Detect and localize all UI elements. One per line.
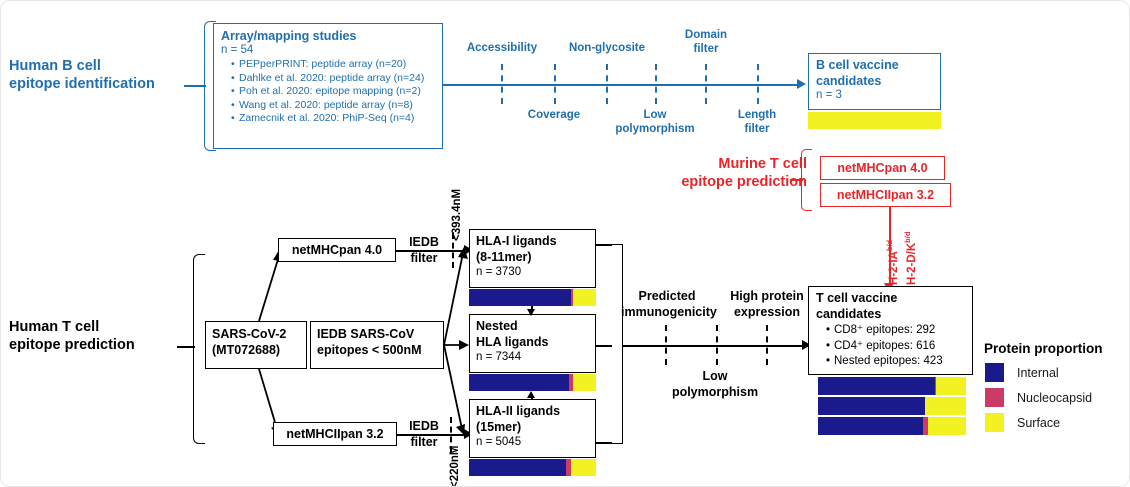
proportion-bar-cd8 xyxy=(818,377,966,395)
tcell-candidates-line1: T cell vaccine xyxy=(816,291,965,307)
human-predictor-netmhcpan: netMHCpan 4.0 xyxy=(278,238,396,262)
bar-segment-internal xyxy=(818,397,925,415)
nested-line1: Nested xyxy=(476,319,589,335)
array-mapping-studies-list: PEPperPRINT: peptide array (n=20) Dahlke… xyxy=(221,58,435,126)
label-tcell-low-polymorphism: Low polymorphism xyxy=(665,369,765,400)
sars-cov2-line1: SARS-CoV-2 xyxy=(212,327,300,343)
tcell-section-label: Human T cell epitope prediction xyxy=(9,319,184,354)
label-highprot-l1: High protein xyxy=(723,289,811,305)
bcell-section-label: Human B cell epitope identification xyxy=(9,58,199,93)
label-low-polymorphism-l1: Low xyxy=(605,109,705,123)
legend-label-internal: Internal xyxy=(1017,366,1059,380)
bcell-candidates-line2: candidates xyxy=(816,74,933,90)
hla-i-n: n = 3730 xyxy=(476,265,589,281)
proportion-bar-hla-i xyxy=(469,289,596,306)
label-tcell-lowpoly-l2: polymorphism xyxy=(665,385,765,401)
label-accessibility: Accessibility xyxy=(456,42,548,54)
bar-segment-surface xyxy=(936,377,966,395)
proportion-bar-cd4 xyxy=(818,397,966,415)
murine-section-label-line1: Murine T cell xyxy=(627,156,807,174)
tick-tcell-low-polymorphism xyxy=(716,325,718,365)
allele-label-h2-ia: H-2-IAb/d xyxy=(885,240,900,285)
label-highprot-l2: expression xyxy=(723,305,811,321)
label-domain-filter: Domain filter xyxy=(666,29,746,56)
collector-mid-stub xyxy=(596,345,612,347)
label-predicted-l2: immunogenicity xyxy=(621,305,713,321)
bar-segment-surface xyxy=(573,289,596,306)
bcell-section-label-line1: Human B cell xyxy=(9,58,199,76)
bcell-pipeline-line xyxy=(443,84,801,86)
array-mapping-studies-box: Array/mapping studies n = 54 PEPperPRINT… xyxy=(213,23,443,149)
study-item: Poh et al. 2020: epitope mapping (n=2) xyxy=(231,85,435,99)
tcell-candidate-item: CD8⁺ epitopes: 292 xyxy=(826,323,965,339)
murine-section-label: Murine T cell epitope prediction xyxy=(627,156,807,191)
tcell-vaccine-candidates-box: T cell vaccine candidates CD8⁺ epitopes:… xyxy=(808,286,973,375)
study-item: Dahlke et al. 2020: peptide array (n=24) xyxy=(231,72,435,86)
label-predicted-immunogenicity: Predicted immunogenicity xyxy=(621,289,713,320)
allele-label-h2-dk-main: H-2-D/K xyxy=(906,243,918,285)
tcell-candidates-line2: candidates xyxy=(816,307,965,323)
iedb-filter-bottom-l2: filter xyxy=(400,435,448,451)
study-item: PEPperPRINT: peptide array (n=20) xyxy=(231,58,435,72)
legend-swatch-internal xyxy=(984,362,1005,383)
nested-hla-ligands-box: Nested HLA ligands n = 7344 xyxy=(469,314,596,373)
hla-ii-line1: HLA-II ligands xyxy=(476,404,589,420)
threshold-label-top: <393.4nM xyxy=(451,189,463,241)
bar-segment-surface xyxy=(925,397,966,415)
allele-label-h2-ia-main: H-2-IA xyxy=(888,251,900,285)
legend-swatch-nucleocapsid xyxy=(984,387,1005,408)
bar-segment-surface xyxy=(928,417,966,435)
bar-segment-internal xyxy=(469,374,569,391)
proportion-bar-bcell-candidates xyxy=(808,112,941,129)
array-mapping-studies-n: n = 54 xyxy=(221,44,435,56)
hla-i-line2: (8-11mer) xyxy=(476,250,589,266)
tcell-candidate-item: Nested epitopes: 423 xyxy=(826,354,965,370)
bar-segment-internal xyxy=(469,459,566,476)
iedb-sars-cov-line1: IEDB SARS-CoV xyxy=(317,327,437,343)
tcell-section-label-line2: epitope prediction xyxy=(9,337,184,355)
sars-cov2-line2: (MT072688) xyxy=(212,343,300,359)
label-predicted-l1: Predicted xyxy=(621,289,713,305)
murine-brace-stem xyxy=(790,179,803,181)
collector-bot-stub xyxy=(596,442,612,444)
bar-segment-internal xyxy=(818,417,923,435)
nested-line2: HLA ligands xyxy=(476,335,589,351)
bcell-brace-stem xyxy=(184,85,206,87)
allele-label-h2-dk: H-2-D/Kb/d xyxy=(903,232,918,285)
nested-n: n = 7344 xyxy=(476,350,589,366)
bcell-candidates-line1: B cell vaccine xyxy=(816,58,933,74)
bcell-vaccine-candidates-box: B cell vaccine candidates n = 3 xyxy=(808,53,941,110)
hlaii-to-nested-arrow xyxy=(527,391,535,398)
bar-segment-surface xyxy=(571,459,596,476)
label-low-polymorphism: Low polymorphism xyxy=(605,109,705,136)
tick-accessibility xyxy=(501,64,503,104)
human-predictor-netmhciipan: netMHCIIpan 3.2 xyxy=(273,422,397,446)
label-high-protein-expression: High protein expression xyxy=(723,289,811,320)
iedb-sars-cov-box: IEDB SARS-CoV epitopes < 500nM xyxy=(310,321,444,369)
tick-non-glycosite xyxy=(606,64,608,104)
murine-section-label-line2: epitope prediction xyxy=(627,174,807,192)
legend-title: Protein proportion xyxy=(984,341,1129,356)
murine-tool-netmhcpan: netMHCpan 4.0 xyxy=(820,156,945,180)
label-length-filter-l1: Length xyxy=(719,109,795,123)
legend-label-nucleocapsid: Nucleocapsid xyxy=(1017,391,1092,405)
proportion-bar-hla-ii xyxy=(469,459,596,476)
array-mapping-studies-title: Array/mapping studies xyxy=(221,29,435,43)
collector-top-stub xyxy=(596,244,612,246)
tick-predicted-immunogenicity xyxy=(665,325,667,365)
figure-canvas: Human B cell epitope identification Arra… xyxy=(0,0,1130,487)
proportion-bar-nested-epitopes xyxy=(818,417,966,435)
legend-item-internal: Internal xyxy=(984,362,1129,383)
legend-label-surface: Surface xyxy=(1017,416,1060,430)
allele-label-h2-ia-sup: b/d xyxy=(885,240,894,251)
label-low-polymorphism-l2: polymorphism xyxy=(605,123,705,137)
proportion-bar-nested xyxy=(469,374,596,391)
label-length-filter-l2: filter xyxy=(719,123,795,137)
tcell-brace xyxy=(193,254,205,444)
bar-segment-surface xyxy=(808,112,941,129)
hla-ii-line2: (15mer) xyxy=(476,420,589,436)
hla-ii-n: n = 5045 xyxy=(476,435,589,451)
iedb-filter-top-l2: filter xyxy=(400,251,448,267)
tick-low-polymorphism xyxy=(655,64,657,104)
tick-domain-filter xyxy=(705,64,707,104)
murine-tool-netmhciipan: netMHCIIpan 3.2 xyxy=(820,183,951,207)
label-domain-filter-l2: filter xyxy=(666,43,746,57)
tick-coverage xyxy=(554,64,556,104)
hla-i-line1: HLA-I ligands xyxy=(476,234,589,250)
label-non-glycosite: Non-glycosite xyxy=(558,42,656,54)
bar-segment-surface xyxy=(573,374,596,391)
hla-i-ligands-box: HLA-I ligands (8-11mer) n = 3730 xyxy=(469,229,596,288)
legend-swatch-surface xyxy=(984,412,1005,433)
iedb-sars-cov-line2: epitopes < 500nM xyxy=(317,343,437,359)
study-item: Wang et al. 2020: peptide array (n=8) xyxy=(231,99,435,113)
study-item: Zamecnik et al. 2020: PhiP-Seq (n=4) xyxy=(231,112,435,126)
tcell-pipeline-line xyxy=(622,345,808,347)
iedb-filter-bottom-l1: IEDB xyxy=(400,419,448,435)
threshold-label-bottom: <220nM xyxy=(449,445,461,487)
bar-segment-internal xyxy=(469,289,571,306)
legend-item-nucleocapsid: Nucleocapsid xyxy=(984,387,1129,408)
tcell-candidate-item: CD4⁺ epitopes: 616 xyxy=(826,339,965,355)
ligands-collector-bracket xyxy=(609,244,623,444)
label-length-filter: Length filter xyxy=(719,109,795,136)
iedb-filter-top-l1: IEDB xyxy=(400,235,448,251)
allele-label-h2-dk-sup: b/d xyxy=(903,232,912,243)
bar-segment-internal xyxy=(818,377,935,395)
legend-item-surface: Surface xyxy=(984,412,1129,433)
bcell-section-label-line2: epitope identification xyxy=(9,76,199,94)
tick-high-protein-expression xyxy=(766,325,768,365)
iedb-filter-label-top: IEDB filter xyxy=(400,235,448,266)
label-tcell-lowpoly-l1: Low xyxy=(665,369,765,385)
tick-length-filter xyxy=(757,64,759,104)
label-domain-filter-l1: Domain xyxy=(666,29,746,43)
bcell-pipeline-arrowhead xyxy=(797,79,806,89)
iedb-filter-label-bottom: IEDB filter xyxy=(400,419,448,450)
hla-ii-ligands-box: HLA-II ligands (15mer) n = 5045 xyxy=(469,399,596,458)
legend: Protein proportion Internal Nucleocapsid… xyxy=(984,341,1129,437)
hlai-to-nested-arrow xyxy=(527,309,535,316)
tcell-section-label-line1: Human T cell xyxy=(9,319,184,337)
sars-cov2-source-box: SARS-CoV-2 (MT072688) xyxy=(205,321,307,369)
bcell-candidates-n: n = 3 xyxy=(816,89,933,101)
tcell-candidates-list: CD8⁺ epitopes: 292 CD4⁺ epitopes: 616 Ne… xyxy=(816,323,965,370)
label-coverage: Coverage xyxy=(508,109,600,121)
